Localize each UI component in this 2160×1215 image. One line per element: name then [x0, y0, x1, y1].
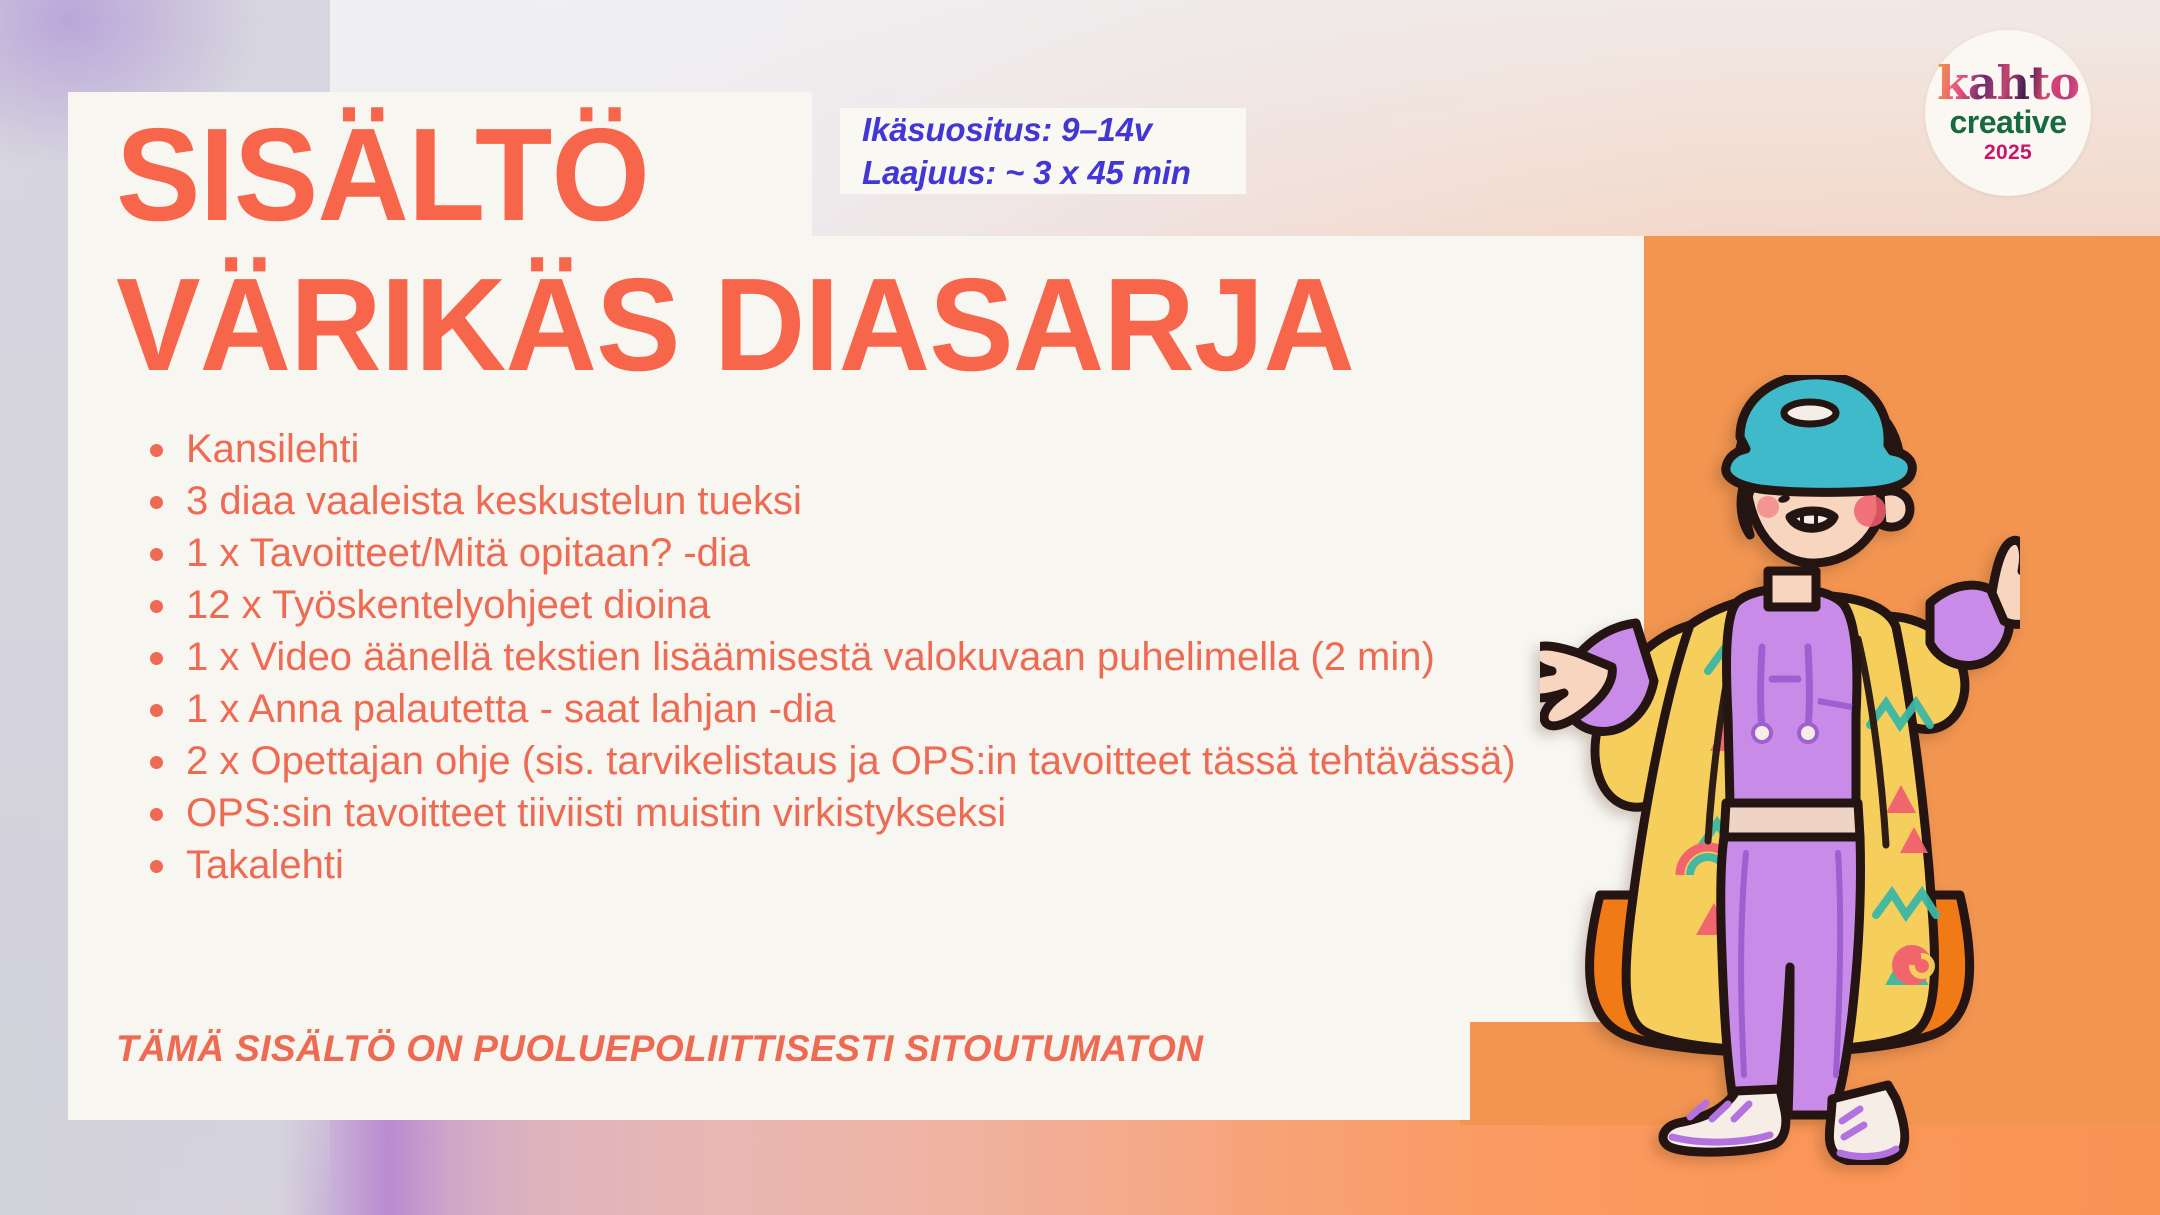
bullet-icon [150, 548, 163, 561]
brand-name: kahto [1937, 61, 2079, 105]
list-item-label: Takalehti [186, 843, 344, 887]
list-item-label: 2 x Opettajan ohje (sis. tarvikelistaus … [186, 739, 1516, 783]
content-list: Kansilehti 3 diaa vaaleista keskustelun … [140, 424, 1520, 892]
bullet-icon [150, 600, 163, 613]
brand-tagline: creative [1950, 105, 2067, 139]
cheering-character-illustration: .ol{stroke:#241412;stroke-width:9;stroke… [1540, 375, 2020, 1165]
disclaimer-text: TÄMÄ SISÄLTÖ ON PUOLUEPOLIITTISESTI SITO… [116, 1028, 1203, 1070]
page-title-line-2: VÄRIKÄS DIASARJA [116, 250, 1556, 400]
page-title: SISÄLTÖ VÄRIKÄS DIASARJA [116, 100, 1556, 400]
list-item: Takalehti [140, 840, 1520, 890]
info-box: Ikäsuositus: 9–14v Laajuus: ~ 3 x 45 min [840, 108, 1246, 194]
bullet-icon [150, 756, 163, 769]
slide-canvas: SISÄLTÖ VÄRIKÄS DIASARJA Ikäsuositus: 9–… [0, 0, 2160, 1215]
bullet-icon [150, 808, 163, 821]
list-item: 2 x Opettajan ohje (sis. tarvikelistaus … [140, 736, 1520, 786]
list-item: 1 x Video äänellä tekstien lisäämisestä … [140, 632, 1520, 682]
list-item: OPS:sin tavoitteet tiiviisti muistin vir… [140, 788, 1520, 838]
list-item: 12 x Työskentelyohjeet dioina [140, 580, 1520, 630]
age-recommendation-text: Ikäsuositus: 9–14v [862, 108, 1246, 151]
list-item-label: 1 x Video äänellä tekstien lisäämisestä … [186, 635, 1435, 679]
bullet-icon [150, 860, 163, 873]
brand-logo: kahto creative 2025 [1925, 30, 2091, 196]
bullet-icon [150, 652, 163, 665]
list-item-label: 3 diaa vaaleista keskustelun tueksi [186, 479, 802, 523]
page-title-line-1: SISÄLTÖ [116, 100, 1556, 250]
list-item: 3 diaa vaaleista keskustelun tueksi [140, 476, 1520, 526]
bullet-icon [150, 704, 163, 717]
list-item-label: 12 x Työskentelyohjeet dioina [186, 583, 710, 627]
list-item: 1 x Tavoitteet/Mitä opitaan? -dia [140, 528, 1520, 578]
list-item-label: OPS:sin tavoitteet tiiviisti muistin vir… [186, 791, 1006, 835]
list-item: Kansilehti [140, 424, 1520, 474]
brand-year: 2025 [1984, 141, 2032, 165]
list-item-label: Kansilehti [186, 427, 359, 471]
bullet-icon [150, 496, 163, 509]
list-item-label: 1 x Tavoitteet/Mitä opitaan? -dia [186, 531, 750, 575]
list-item: 1 x Anna palautetta - saat lahjan -dia [140, 684, 1520, 734]
duration-text: Laajuus: ~ 3 x 45 min [862, 151, 1246, 194]
list-item-label: 1 x Anna palautetta - saat lahjan -dia [186, 687, 835, 731]
bullet-icon [150, 444, 163, 457]
